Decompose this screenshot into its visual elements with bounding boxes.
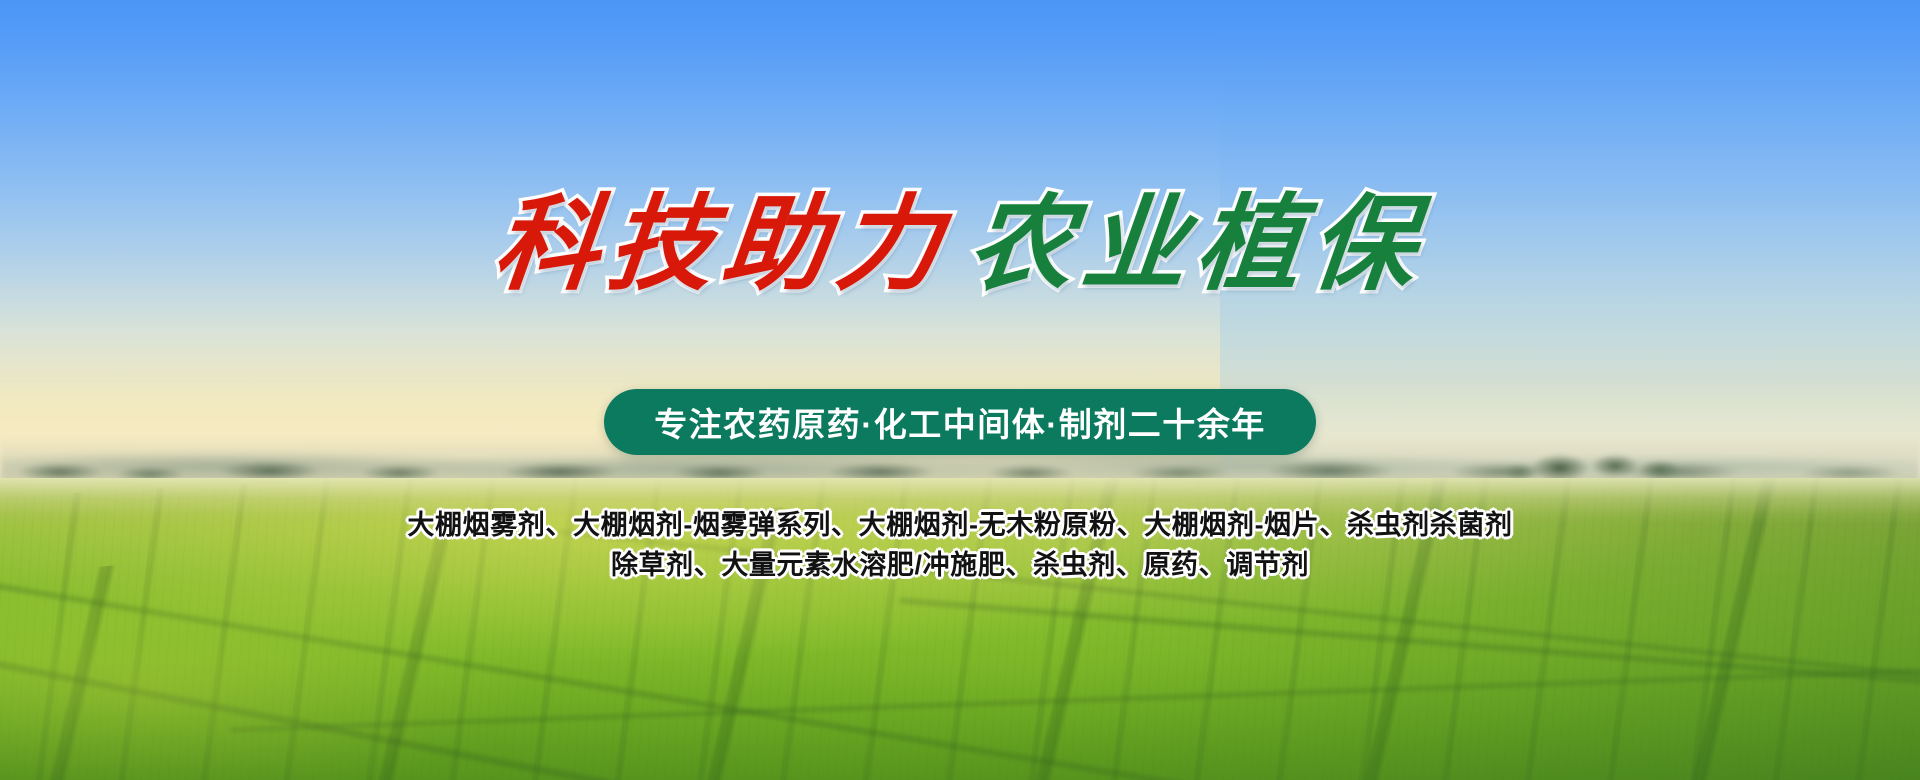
- headline: 科技助力农业植保: [0, 186, 1920, 302]
- product-description: 大棚烟雾剂、大棚烟剂-烟雾弹系列、大棚烟剂-无木粉原粉、大棚烟剂-烟片、杀虫剂杀…: [0, 505, 1920, 585]
- headline-part-green: 农业植保: [963, 186, 1431, 302]
- product-description-line-2: 除草剂、大量元素水溶肥/冲施肥、杀虫剂、原药、调节剂: [0, 545, 1920, 585]
- headline-part-red: 科技助力: [489, 186, 957, 302]
- product-description-line-1: 大棚烟雾剂、大棚烟剂-烟雾弹系列、大棚烟剂-无木粉原粉、大棚烟剂-烟片、杀虫剂杀…: [0, 505, 1920, 545]
- tagline-badge-text: 专注农药原药·化工中间体·制剂二十余年: [654, 398, 1265, 446]
- hero-banner: 科技助力农业植保 专注农药原药·化工中间体·制剂二十余年 大棚烟雾剂、大棚烟剂-…: [0, 0, 1920, 780]
- banner-content: 科技助力农业植保 专注农药原药·化工中间体·制剂二十余年 大棚烟雾剂、大棚烟剂-…: [0, 0, 1920, 780]
- tagline-badge: 专注农药原药·化工中间体·制剂二十余年: [604, 389, 1316, 455]
